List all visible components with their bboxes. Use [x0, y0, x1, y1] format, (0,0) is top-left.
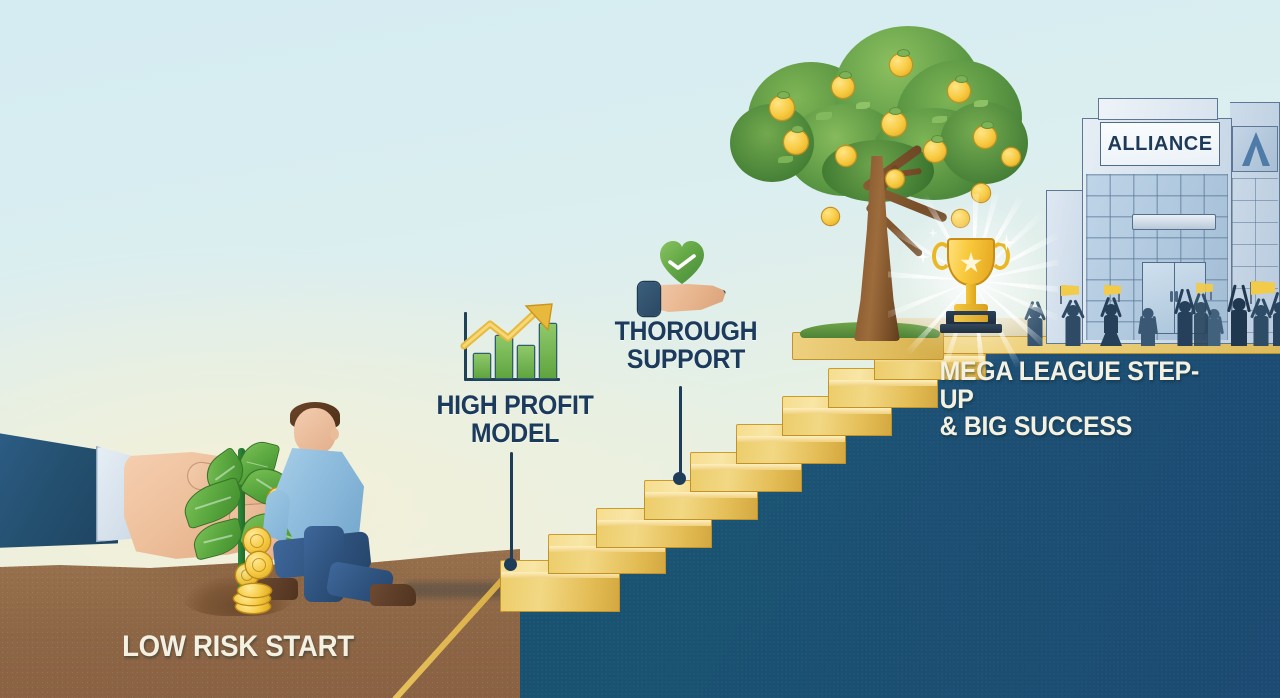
fruit-leaf [932, 136, 943, 142]
leader-line-support [679, 386, 682, 480]
hand-heart-check-icon [636, 240, 732, 324]
fruit-leaf [898, 50, 909, 56]
building-sign: ALLIANCE [1100, 122, 1220, 166]
building-roof-cap [1098, 98, 1218, 120]
building-entrance-canopy [1132, 214, 1216, 230]
tree-leaf [932, 116, 947, 123]
tree-leaf [778, 156, 793, 163]
kneeling-man-dropping-coins [258, 398, 438, 620]
bar-chart-growth-icon [456, 306, 566, 388]
tree-fruit [974, 126, 996, 148]
fruit-leaf [792, 126, 803, 132]
person-body [1066, 316, 1081, 346]
gold-coin [244, 528, 270, 554]
growth-arrow-icon [456, 302, 566, 358]
hand-cuff-icon [638, 282, 660, 316]
label-high-profit-model: HIGH PROFIT MODEL [428, 392, 603, 447]
man-shoe [370, 584, 416, 606]
label-thorough-support: THOROUGH SUPPORT [605, 318, 767, 373]
fruit-leaf [890, 108, 901, 114]
leader-dot-profit [504, 558, 517, 571]
building-logo-panel [1232, 126, 1278, 172]
crowd-person [1098, 292, 1124, 346]
fruit-leaf [840, 72, 851, 78]
trophy-stem [966, 284, 976, 306]
tree-leaf [856, 102, 870, 109]
flag-icon [1061, 285, 1079, 297]
tree-leaf [974, 100, 988, 107]
person-body [1104, 315, 1118, 333]
crowd-person [1060, 294, 1086, 346]
person-skirt [1100, 332, 1122, 346]
infographic-scene: ALLIANCE [0, 0, 1280, 698]
tree-fruit [948, 80, 970, 102]
leader-dot-support [673, 472, 686, 485]
man-ear [330, 428, 339, 440]
chart-x-axis [464, 378, 560, 381]
tree-fruit [886, 170, 904, 188]
tree-fruit [1002, 148, 1020, 166]
tree-fruit [882, 112, 906, 136]
leader-line-profit [510, 452, 513, 566]
trophy-base-lower [940, 324, 1002, 333]
person-body [1194, 313, 1208, 346]
trophy-icon [932, 232, 1010, 340]
gold-coin [246, 552, 272, 578]
person-body [1231, 310, 1247, 346]
label-mega-league-step-up: MEGA LEAGUE STEP-UP & BIG SUCCESS [940, 358, 1207, 441]
crowd-person [1136, 300, 1160, 346]
fruit-leaf [778, 92, 789, 98]
tree-fruit [832, 76, 854, 98]
tree-fruit [822, 208, 839, 225]
label-low-risk-start: LOW RISK START [122, 632, 354, 663]
fruit-leaf [956, 76, 967, 82]
check-icon [668, 254, 696, 270]
tree-leaf [816, 112, 832, 120]
person-body [1273, 313, 1280, 346]
tree-fruit [784, 130, 808, 154]
person-body [1254, 316, 1269, 346]
crowd-person [1268, 290, 1280, 346]
crowd-person [1188, 290, 1214, 346]
fruit-leaf [982, 122, 993, 128]
building-sign-text: ALLIANCE [1107, 133, 1212, 156]
tree-fruit [890, 54, 912, 76]
gold-coin [238, 584, 271, 597]
tree-fruit [924, 140, 946, 162]
celebrating-crowd [1020, 266, 1280, 346]
trophy-nameplate [954, 315, 988, 322]
tree-fruit [770, 96, 794, 120]
tree-fruit [836, 146, 856, 166]
